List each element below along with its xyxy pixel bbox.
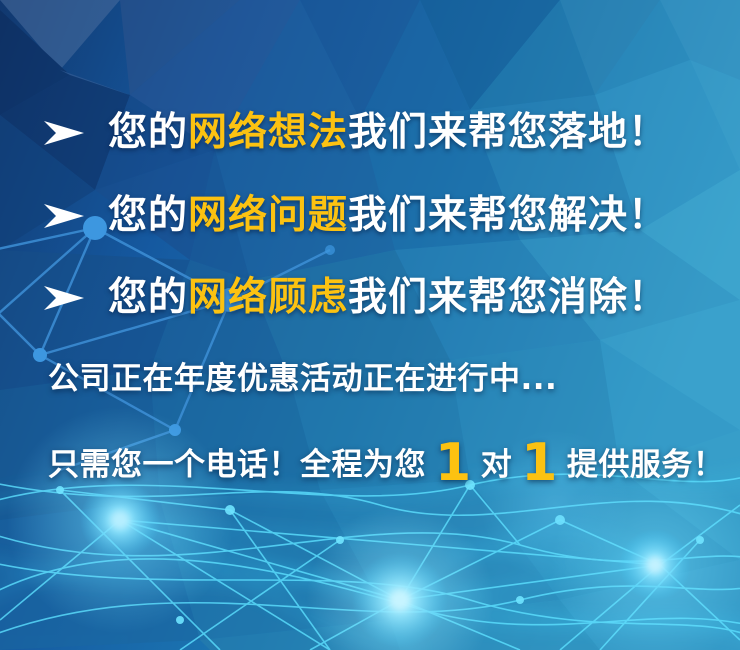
service-number-second: 1 — [512, 437, 567, 489]
bullet-3-highlight: 网络顾虑 — [188, 278, 348, 317]
bullet-2-pre: 您的 — [108, 196, 188, 235]
bullet-1-pre: 您的 — [108, 113, 188, 152]
bullet-1-post: 我们来帮您落地！ — [348, 113, 668, 152]
promo-banner: 您的网络想法我们来帮您落地！ 您的网络问题我们来帮您解决！ 您的网络顾虑我们来帮… — [0, 0, 740, 650]
arrow-right-icon — [42, 118, 86, 148]
bullet-text-1: 您的网络想法我们来帮您落地！ — [108, 113, 668, 152]
promo-status-line: 公司正在年度优惠活动正在进行中... — [48, 364, 557, 395]
bullet-row-3: 您的网络顾虑我们来帮您消除！ — [0, 278, 740, 317]
bullet-text-3: 您的网络顾虑我们来帮您消除！ — [108, 278, 668, 317]
bullet-2-post: 我们来帮您解决！ — [348, 196, 668, 235]
banner-content: 您的网络想法我们来帮您落地！ 您的网络问题我们来帮您解决！ 您的网络顾虑我们来帮… — [0, 0, 740, 650]
bullet-3-post: 我们来帮您消除！ — [348, 278, 668, 317]
service-line-part-3: 提供服务！ — [567, 450, 725, 481]
service-number-first: 1 — [426, 437, 481, 489]
bullet-1-highlight: 网络想法 — [188, 113, 348, 152]
service-line-part-2: 对 — [481, 450, 513, 481]
bullet-row-2: 您的网络问题我们来帮您解决！ — [0, 196, 740, 235]
promo-service-line: 只需您一个电话！全程为您 1 对 1 提供服务！ — [48, 432, 724, 484]
arrow-right-icon — [42, 201, 86, 231]
bullet-3-pre: 您的 — [108, 278, 188, 317]
service-line-part-1: 只需您一个电话！全程为您 — [48, 450, 426, 481]
bullet-2-highlight: 网络问题 — [188, 196, 348, 235]
bullet-text-2: 您的网络问题我们来帮您解决！ — [108, 196, 668, 235]
bullet-row-1: 您的网络想法我们来帮您落地！ — [0, 113, 740, 152]
arrow-right-icon — [42, 283, 86, 313]
